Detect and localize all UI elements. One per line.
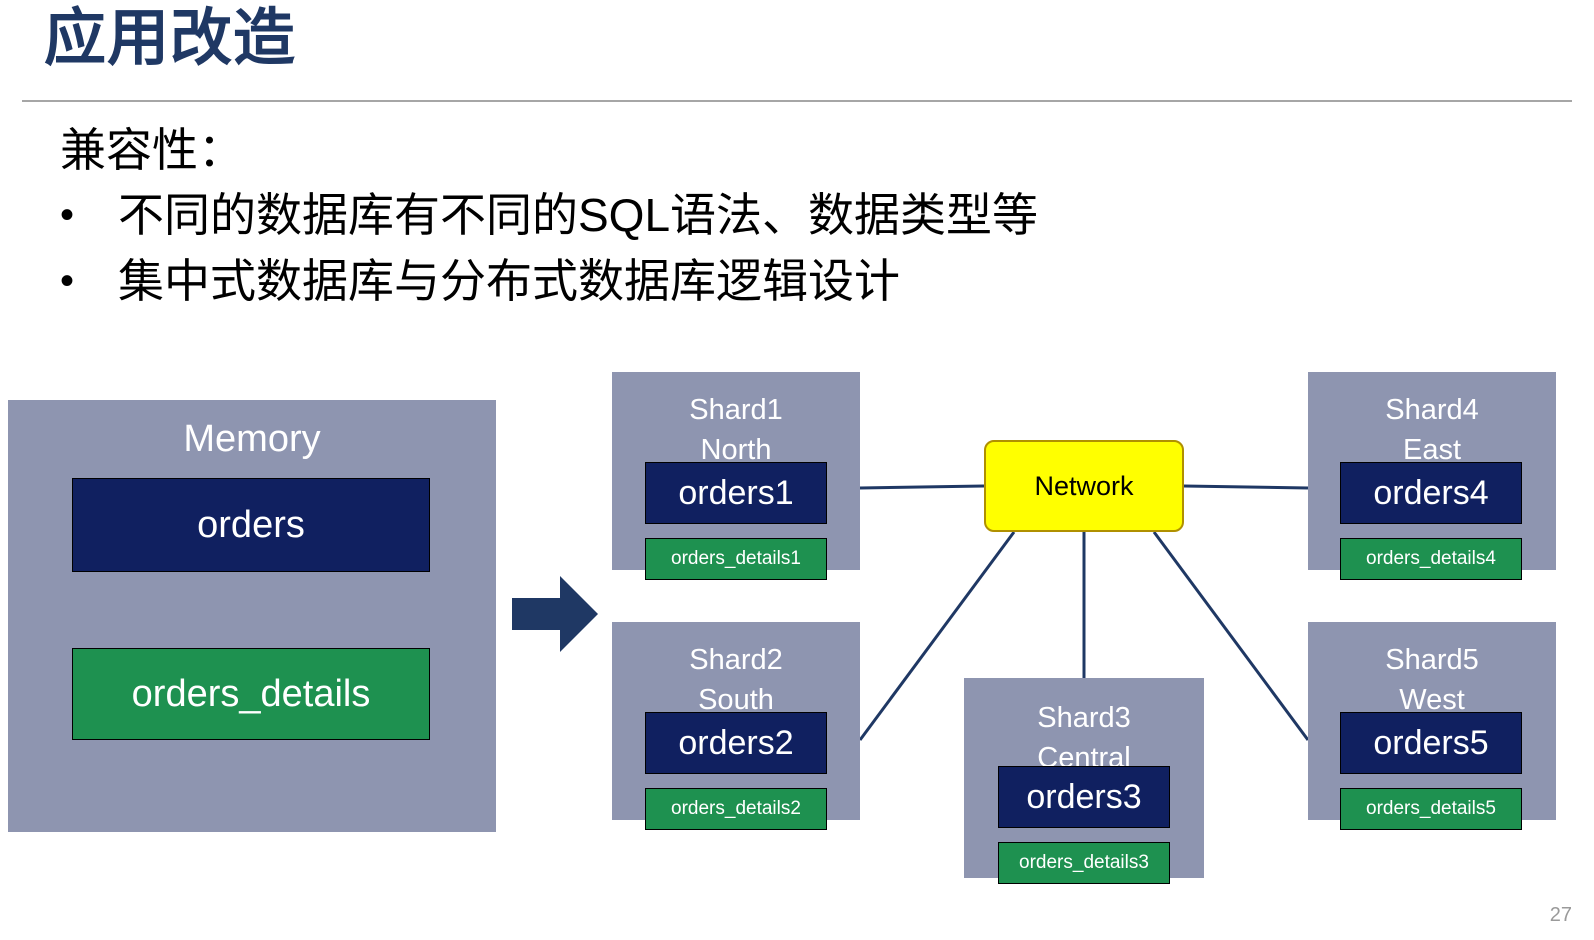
title-divider: [22, 100, 1572, 102]
shard4-detail-table: orders_details4: [1340, 538, 1522, 580]
shard1-primary-table: orders1: [645, 462, 827, 524]
sharding-diagram: Memory orders orders_details Shard1 Nort…: [0, 360, 1594, 940]
shard1-panel-label: Shard1 North: [612, 390, 860, 470]
shard5-panel-label: Shard5 West: [1308, 640, 1556, 720]
shard4-panel-label: Shard4 East: [1308, 390, 1556, 470]
transform-arrow-icon: [512, 572, 598, 656]
bullet-text-1: 不同的数据库有不同的SQL语法、数据类型等: [118, 182, 1038, 248]
shard4-primary-table: orders4: [1340, 462, 1522, 524]
shard2-primary-table: orders2: [645, 712, 827, 774]
page-title: 应用改造: [44, 8, 296, 70]
page-number: 27: [1550, 904, 1572, 927]
shard2-detail-table: orders_details2: [645, 788, 827, 830]
memory-panel-label: Memory: [8, 418, 496, 461]
network-node: Network: [984, 440, 1184, 532]
shard2-panel-label: Shard2 South: [612, 640, 860, 720]
bullet-item-1: • 不同的数据库有不同的SQL语法、数据类型等: [60, 182, 1038, 248]
body-heading: 兼容性：: [60, 118, 1038, 182]
table-orders: orders: [72, 478, 430, 572]
table-orders-details: orders_details: [72, 648, 430, 740]
body-text-block: 兼容性： • 不同的数据库有不同的SQL语法、数据类型等 • 集中式数据库与分布…: [60, 118, 1038, 314]
memory-panel: Memory: [8, 400, 496, 832]
shard1-detail-table: orders_details1: [645, 538, 827, 580]
shard5-detail-table: orders_details5: [1340, 788, 1522, 830]
bullet-marker-icon: •: [60, 248, 118, 314]
shard5-primary-table: orders5: [1340, 712, 1522, 774]
shard3-primary-table: orders3: [998, 766, 1170, 828]
bullet-marker-icon: •: [60, 182, 118, 248]
bullet-text-2: 集中式数据库与分布式数据库逻辑设计: [118, 248, 900, 314]
shard3-detail-table: orders_details3: [998, 842, 1170, 884]
bullet-item-2: • 集中式数据库与分布式数据库逻辑设计: [60, 248, 1038, 314]
